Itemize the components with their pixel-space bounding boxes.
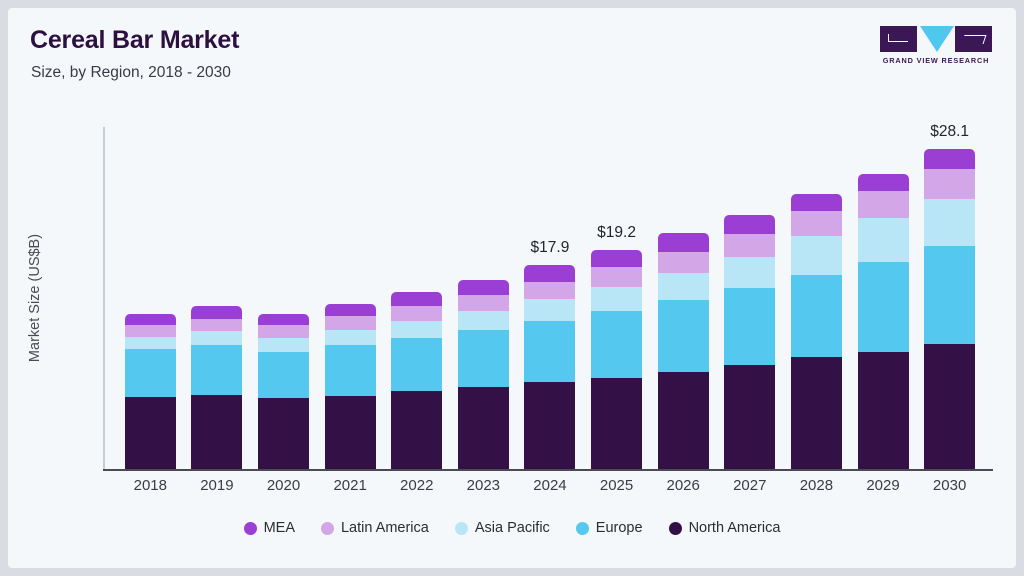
bar-segment[interactable]: [591, 378, 642, 469]
bar-stack[interactable]: [258, 314, 309, 469]
legend-label: Asia Pacific: [475, 520, 550, 536]
bar-segment[interactable]: [658, 300, 709, 372]
bar-segment[interactable]: [791, 275, 842, 357]
bar-segment[interactable]: [191, 345, 242, 395]
bar-segment[interactable]: [191, 319, 242, 332]
bar-column[interactable]: 2029: [850, 127, 917, 469]
x-axis-tick-label: 2025: [600, 477, 633, 494]
bar-stack[interactable]: [524, 265, 575, 469]
bar-segment[interactable]: [191, 306, 242, 319]
bar-segment[interactable]: [458, 280, 509, 295]
bar-segment[interactable]: [591, 250, 642, 267]
logo-box-left-icon: [880, 26, 917, 52]
chart-legend: MEALatin AmericaAsia PacificEuropeNorth …: [8, 520, 1016, 536]
bar-segment[interactable]: [524, 299, 575, 321]
bar-segment[interactable]: [524, 282, 575, 299]
bar-column[interactable]: 2018: [117, 127, 184, 469]
legend-color-swatch-icon: [321, 522, 334, 535]
legend-item[interactable]: Asia Pacific: [455, 520, 550, 536]
bar-column[interactable]: 2027: [716, 127, 783, 469]
bar-segment[interactable]: [724, 257, 775, 288]
bar-segment[interactable]: [258, 338, 309, 352]
bar-segment[interactable]: [191, 331, 242, 345]
bar-segment[interactable]: [858, 262, 909, 352]
bar-segment[interactable]: [858, 352, 909, 469]
bar-column[interactable]: 2023: [450, 127, 517, 469]
bar-segment[interactable]: [791, 194, 842, 211]
bar-segment[interactable]: [458, 311, 509, 330]
bar-segment[interactable]: [858, 191, 909, 218]
bar-segment[interactable]: [591, 311, 642, 378]
bar-segment[interactable]: [458, 387, 509, 469]
x-axis-tick-label: 2019: [200, 477, 233, 494]
bar-stack[interactable]: [125, 314, 176, 469]
bar-segment[interactable]: [658, 273, 709, 300]
logo-box-right-icon: [955, 26, 992, 52]
bar-segment[interactable]: [391, 391, 442, 469]
bar-segment[interactable]: [258, 398, 309, 469]
bar-segment[interactable]: [325, 396, 376, 469]
bar-segment[interactable]: [724, 288, 775, 366]
bar-segment[interactable]: [125, 314, 176, 325]
bar-segment[interactable]: [258, 352, 309, 399]
bar-segment[interactable]: [924, 246, 975, 344]
legend-label: MEA: [264, 520, 295, 536]
bar-segment[interactable]: [325, 330, 376, 345]
bar-segment[interactable]: [591, 267, 642, 286]
bar-segment[interactable]: [258, 314, 309, 325]
legend-item[interactable]: North America: [669, 520, 781, 536]
bar-stack[interactable]: [191, 306, 242, 469]
bar-segment[interactable]: [391, 306, 442, 321]
bar-segment[interactable]: [391, 292, 442, 306]
x-axis-tick-label: 2021: [333, 477, 366, 494]
bar-column[interactable]: 2019: [184, 127, 251, 469]
bar-segment[interactable]: [658, 372, 709, 469]
y-axis-line: [103, 127, 105, 469]
legend-item[interactable]: MEA: [244, 520, 295, 536]
legend-item[interactable]: Latin America: [321, 520, 429, 536]
x-axis-tick-label: 2027: [733, 477, 766, 494]
x-axis-tick-label: 2026: [666, 477, 699, 494]
bar-segment[interactable]: [658, 233, 709, 252]
logo-triangle-icon: [920, 26, 954, 52]
bar-segment[interactable]: [125, 349, 176, 397]
bar-segment[interactable]: [125, 397, 176, 469]
bar-segment[interactable]: [658, 252, 709, 273]
legend-color-swatch-icon: [244, 522, 257, 535]
bar-stack[interactable]: [658, 233, 709, 469]
bar-segment[interactable]: [591, 287, 642, 311]
legend-color-swatch-icon: [669, 522, 682, 535]
bar-stack[interactable]: [724, 215, 775, 469]
legend-item[interactable]: Europe: [576, 520, 643, 536]
bar-value-label: $17.9: [531, 239, 570, 257]
bar-value-label: $19.2: [597, 224, 636, 242]
chart-page: Cereal Bar Market Size, by Region, 2018 …: [8, 8, 1016, 568]
bar-segment[interactable]: [791, 236, 842, 275]
bar-column[interactable]: 2026: [650, 127, 717, 469]
bar-segment[interactable]: [458, 295, 509, 311]
bar-stack[interactable]: [858, 174, 909, 469]
bar-segment[interactable]: [125, 325, 176, 336]
bar-column[interactable]: 2021: [317, 127, 384, 469]
bar-column[interactable]: $17.92024: [517, 127, 584, 469]
x-axis-line: [103, 469, 993, 471]
bar-segment[interactable]: [924, 344, 975, 469]
bar-segment[interactable]: [924, 149, 975, 170]
page-title: Cereal Bar Market: [30, 26, 239, 55]
bar-segment[interactable]: [924, 199, 975, 246]
y-axis-title: Market Size (US$B): [27, 234, 43, 362]
legend-color-swatch-icon: [455, 522, 468, 535]
x-axis-tick-label: 2018: [134, 477, 167, 494]
bar-stack[interactable]: [924, 149, 975, 469]
x-axis-tick-label: 2029: [866, 477, 899, 494]
logo-marks: [880, 26, 992, 52]
bar-segment[interactable]: [724, 365, 775, 469]
bar-segment[interactable]: [391, 338, 442, 392]
x-axis-tick-label: 2020: [267, 477, 300, 494]
chart-plot-area: Market Size (US$B) 051015202530 20182019…: [103, 127, 993, 469]
bar-stack[interactable]: [591, 250, 642, 469]
bar-segment[interactable]: [858, 218, 909, 261]
bar-segment[interactable]: [724, 234, 775, 257]
bar-stack[interactable]: [325, 304, 376, 469]
bar-column[interactable]: 2020: [250, 127, 317, 469]
bar-column[interactable]: $28.12030: [916, 127, 983, 469]
bar-stack[interactable]: [458, 280, 509, 469]
bar-stack[interactable]: [391, 292, 442, 469]
legend-label: Latin America: [341, 520, 429, 536]
legend-color-swatch-icon: [576, 522, 589, 535]
bar-column[interactable]: 2028: [783, 127, 850, 469]
bar-segment[interactable]: [325, 316, 376, 330]
bar-segment[interactable]: [791, 357, 842, 469]
logo-text: GRAND VIEW RESEARCH: [880, 56, 992, 65]
bar-segment[interactable]: [325, 345, 376, 396]
bar-segment[interactable]: [325, 304, 376, 317]
legend-label: Europe: [596, 520, 643, 536]
bar-segment[interactable]: [258, 325, 309, 338]
bar-segment[interactable]: [858, 174, 909, 191]
bar-segment[interactable]: [524, 265, 575, 282]
bar-column[interactable]: $19.22025: [583, 127, 650, 469]
bar-segment[interactable]: [391, 321, 442, 338]
chart-header: Cereal Bar Market Size, by Region, 2018 …: [8, 8, 1016, 104]
bar-segment[interactable]: [924, 169, 975, 199]
bar-segment[interactable]: [524, 321, 575, 383]
legend-label: North America: [689, 520, 781, 536]
x-axis-tick-label: 2023: [467, 477, 500, 494]
bar-series-group: 201820192020202120222023$17.92024$19.220…: [117, 127, 983, 469]
bar-stack[interactable]: [791, 194, 842, 469]
grand-view-research-logo: GRAND VIEW RESEARCH: [880, 26, 992, 68]
bar-segment[interactable]: [125, 337, 176, 350]
bar-segment[interactable]: [524, 382, 575, 469]
page-subtitle: Size, by Region, 2018 - 2030: [31, 64, 231, 82]
x-axis-tick-label: 2030: [933, 477, 966, 494]
bar-segment[interactable]: [724, 215, 775, 234]
x-axis-tick-label: 2022: [400, 477, 433, 494]
bar-segment[interactable]: [458, 330, 509, 387]
x-axis-tick-label: 2028: [800, 477, 833, 494]
x-axis-tick-label: 2024: [533, 477, 566, 494]
bar-column[interactable]: 2022: [383, 127, 450, 469]
bar-segment[interactable]: [191, 395, 242, 469]
bar-value-label: $28.1: [930, 123, 969, 141]
bar-segment[interactable]: [791, 211, 842, 236]
